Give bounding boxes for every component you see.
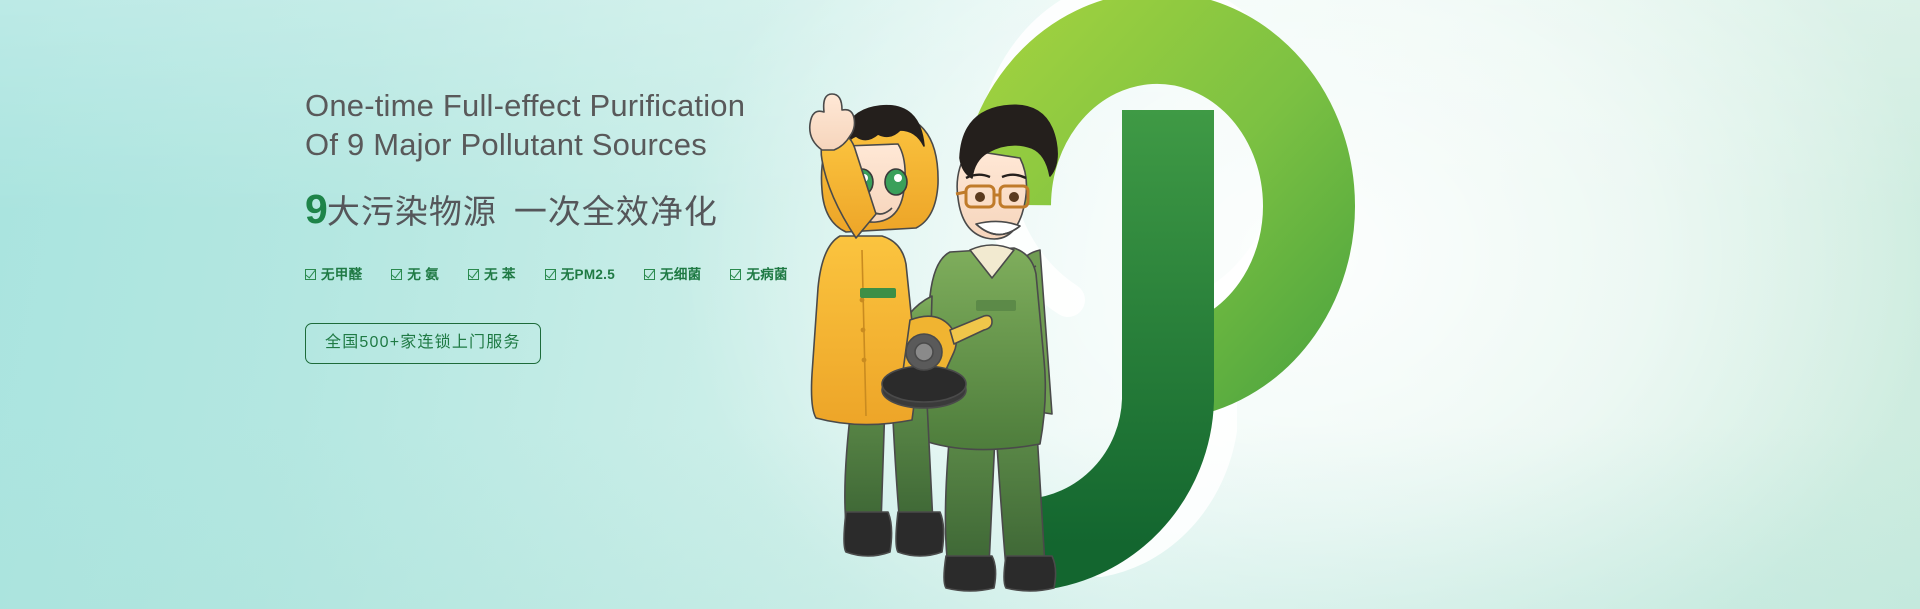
feature-label: 无 氨 [407,268,439,282]
feature-item-0: 无甲醛 [305,268,362,282]
english-headline-line2: Of 9 Major Pollutant Sources [305,125,925,164]
feature-list: 无甲醛 无 氨 无 苯 无PM2.5 无细菌 无病菌 [305,268,925,282]
feature-item-3: 无PM2.5 [545,268,615,282]
checkbox-tick-icon [305,269,316,280]
nationwide-service-button[interactable]: 全国500+家连锁上门服务 [305,323,541,364]
feature-item-4: 无细菌 [644,268,701,282]
feature-label: 无细菌 [660,268,701,282]
chinese-headline: 9 大污染物源 一次全效净化 [305,189,925,230]
chinese-headline-part2: 一次全效净化 [514,195,718,228]
checkbox-tick-icon [468,269,479,280]
chinese-headline-part1: 大污染物源 [327,195,497,228]
feature-label: 无 苯 [484,268,516,282]
checkbox-tick-icon [391,269,402,280]
checkbox-tick-icon [545,269,556,280]
promo-banner: One-time Full-effect Purification Of 9 M… [0,0,1920,609]
checkbox-tick-icon [644,269,655,280]
feature-label: 无PM2.5 [561,268,615,282]
english-headline-line1: One-time Full-effect Purification [305,86,925,125]
checkbox-tick-icon [730,269,741,280]
feature-label: 无甲醛 [321,268,362,282]
feature-label: 无病菌 [746,268,787,282]
feature-item-2: 无 苯 [468,268,516,282]
feature-item-5: 无病菌 [730,268,787,282]
chinese-headline-number: 9 [305,189,327,230]
copy-block: One-time Full-effect Purification Of 9 M… [305,86,925,364]
feature-item-1: 无 氨 [391,268,439,282]
